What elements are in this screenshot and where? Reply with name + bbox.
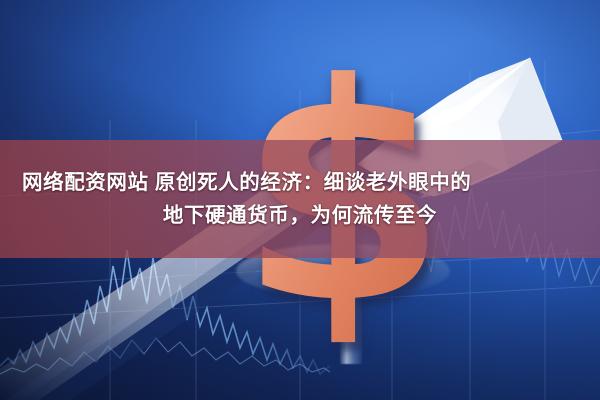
banner-image: $ $ 网络配资网站 原创死人的经济：细谈老外眼中的 地下硬通货币，为何流传至今 [0, 0, 600, 400]
vignette-overlay [0, 0, 600, 400]
